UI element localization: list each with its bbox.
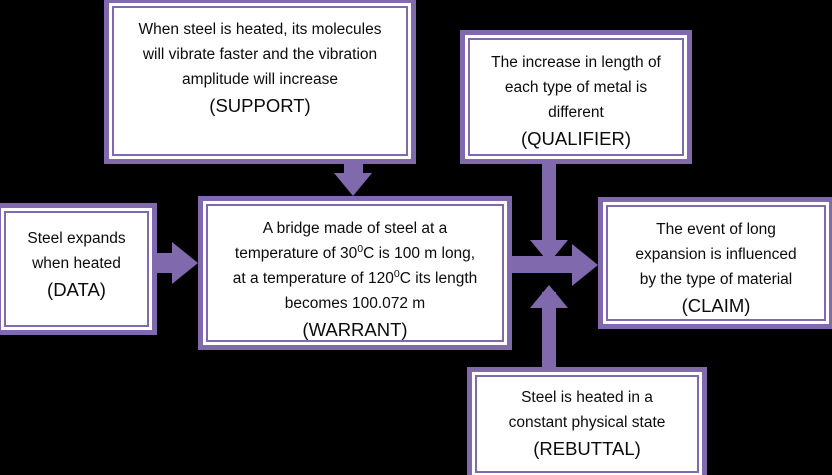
node-qualifier-border-gap: The increase in length of each type of m… (465, 35, 687, 159)
node-qualifier[interactable]: The increase in length of each type of m… (460, 30, 692, 164)
node-warrant-line-2-pre: temperature of 30 (235, 245, 357, 262)
node-rebuttal-body: Steel is heated in a constant physical s… (475, 375, 699, 473)
node-rebuttal[interactable]: Steel is heated in a constant physical s… (467, 367, 707, 475)
node-warrant-line-2-post: C is 100 m long, (363, 245, 475, 262)
arrow-shaft (508, 256, 576, 273)
node-claim-line-3: by the type of material (608, 267, 824, 292)
node-warrant-line-3-post: C its length (400, 270, 478, 287)
node-support-body: When steel is heated, its molecules will… (112, 6, 408, 156)
node-rebuttal-tag: (REBUTTAL) (477, 435, 697, 464)
arrowhead-right-icon (572, 244, 598, 286)
node-rebuttal-border-gap: Steel is heated in a constant physical s… (472, 372, 702, 475)
node-support-border-gap: When steel is heated, its molecules will… (109, 3, 411, 159)
node-warrant-line-1: A bridge made of steel at a (208, 216, 502, 241)
node-data-tag: (DATA) (6, 276, 147, 305)
node-qualifier-line-2: each type of metal is (470, 75, 682, 100)
node-support-tag: (SUPPORT) (114, 92, 406, 121)
arrow-shaft (542, 160, 556, 248)
node-data-body: Steel expands when heated (DATA) (4, 211, 149, 327)
node-qualifier-line-1: The increase in length of (470, 50, 682, 75)
node-claim-border-gap: The event of long expansion is influence… (603, 202, 829, 324)
node-claim[interactable]: The event of long expansion is influence… (598, 197, 832, 329)
node-warrant-line-2: temperature of 300C is 100 m long, (208, 241, 502, 266)
node-claim-line-1: The event of long (608, 217, 824, 242)
node-warrant-line-3: at a temperature of 1200C its length (208, 266, 502, 291)
node-claim-body: The event of long expansion is influence… (606, 205, 826, 321)
node-support[interactable]: When steel is heated, its molecules will… (104, 0, 416, 164)
node-data-line-2: when heated (6, 251, 147, 276)
arrowhead-up-icon (530, 285, 568, 308)
node-claim-line-2: expansion is influenced (608, 242, 824, 267)
node-rebuttal-line-1: Steel is heated in a (477, 385, 697, 410)
arrowhead-down-icon (334, 173, 372, 196)
node-warrant-border-gap: A bridge made of steel at a temperature … (203, 201, 507, 345)
node-rebuttal-line-2: constant physical state (477, 410, 697, 435)
diagram-canvas: When steel is heated, its molecules will… (0, 0, 832, 475)
node-warrant-line-3-pre: at a temperature of 120 (233, 270, 394, 287)
node-data[interactable]: Steel expands when heated (DATA) (0, 203, 157, 335)
node-warrant-tag: (WARRANT) (208, 316, 502, 345)
arrowhead-right-icon (172, 242, 198, 284)
node-qualifier-line-3: different (470, 100, 682, 125)
node-support-line-3: amplitude will increase (114, 67, 406, 92)
node-support-line-1: When steel is heated, its molecules (114, 17, 406, 42)
node-qualifier-body: The increase in length of each type of m… (468, 38, 684, 156)
node-data-border-gap: Steel expands when heated (DATA) (1, 208, 152, 330)
node-warrant-body: A bridge made of steel at a temperature … (206, 204, 504, 342)
node-support-line-2: will vibrate faster and the vibration (114, 42, 406, 67)
node-claim-tag: (CLAIM) (608, 292, 824, 321)
node-qualifier-tag: (QUALIFIER) (470, 125, 682, 154)
node-warrant-line-4: becomes 100.072 m (208, 291, 502, 316)
node-warrant[interactable]: A bridge made of steel at a temperature … (198, 196, 512, 350)
node-data-line-1: Steel expands (6, 226, 147, 251)
